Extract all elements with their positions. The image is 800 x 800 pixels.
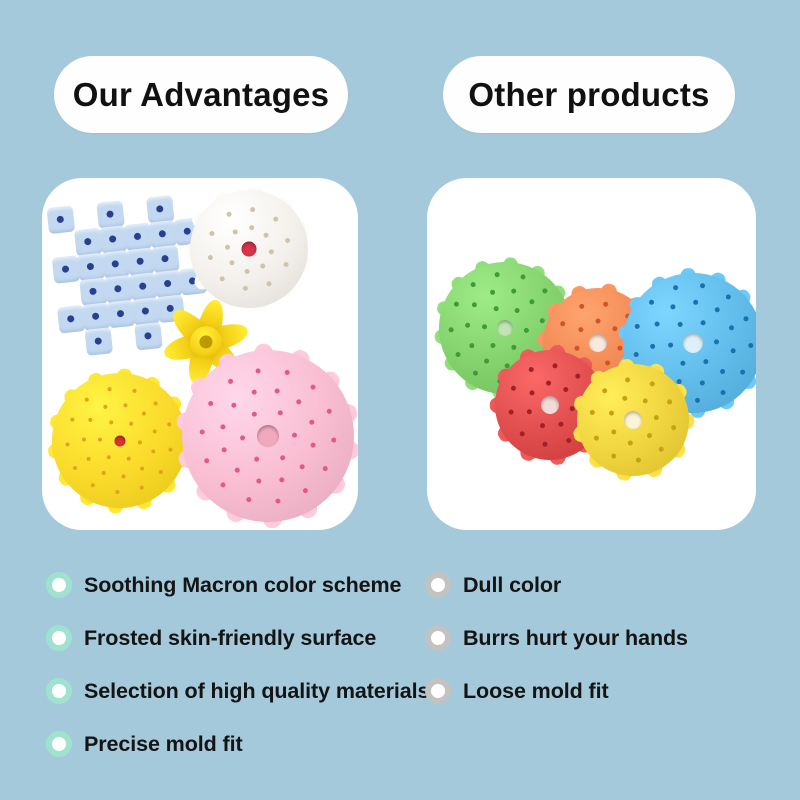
gear-peg-hole [575,373,581,379]
gear-peg-hole [65,442,69,446]
gear-peg-hole [625,377,631,383]
drawback-item[interactable]: Loose mold fit [425,678,609,704]
gear-peg-hole [700,320,705,325]
gear-peg-hole [224,244,229,249]
gear-peg-hole [481,323,486,328]
gear-peg-hole [310,385,315,390]
yellow-gear [47,368,191,512]
gear-peg-hole [526,409,532,415]
gear-peg-hole [106,455,110,459]
gear-peg-hole [291,432,296,437]
gear-peg-hole [511,288,516,293]
gear-peg-hole [81,437,85,441]
gear-peg-hole [251,390,256,395]
gear-peg-hole [303,488,308,493]
right-product-photo [427,178,756,530]
gear-peg-hole [220,424,225,429]
left-column-title: Our Advantages [73,76,329,114]
gear-peg-hole [642,398,648,404]
gear-peg-hole [268,249,273,254]
gear-peg-hole [693,299,698,304]
gear-peg-hole [126,456,130,460]
gear-peg-hole [86,457,90,461]
gear-peg-hole [249,224,254,229]
gear-peg-hole [167,422,171,426]
drawback-label: Dull color [463,573,561,598]
gear-peg-hole [132,389,136,393]
gear-peg-hole [204,458,209,463]
advantage-item[interactable]: Soothing Macron color scheme [46,572,401,598]
gear-peg-hole [654,321,659,326]
advantage-label: Soothing Macron color scheme [84,573,401,598]
gear-peg-hole [70,418,74,422]
drawback-label: Burrs hurt your hands [463,626,688,651]
gear-peg-hole [129,422,133,426]
bad-circle-icon [425,625,451,651]
gear-peg-hole [296,399,301,404]
gear-peg-hole [539,423,545,429]
gear-peg-hole [256,478,261,483]
drawback-item[interactable]: Dull color [425,572,561,598]
gear-peg-hole [277,410,282,415]
gear-peg-hole [464,322,469,327]
gear-peg-hole [608,410,614,416]
gear-peg-hole [280,455,285,460]
gear-peg-hole [254,457,259,462]
advantage-item[interactable]: Precise mold fit [46,731,243,757]
advantage-item[interactable]: Selection of high quality materials [46,678,429,704]
gear-peg-hole [511,344,516,349]
gear-peg-hole [137,440,141,444]
gear-peg-hole [617,345,623,351]
gear-peg-hole [545,380,551,386]
gear-peg-hole [239,435,244,440]
advantage-label: Precise mold fit [84,732,243,757]
gear-peg-hole [529,390,535,396]
good-circle-icon [46,678,72,704]
advantage-item[interactable]: Frosted skin-friendly surface [46,625,376,651]
gear-peg-hole [539,318,544,323]
gear-peg-hole [250,206,255,211]
drawback-item[interactable]: Burrs hurt your hands [425,625,688,651]
good-circle-icon [46,572,72,598]
gear-peg-hole [101,471,105,475]
gear-peg-hole [593,435,599,441]
comparison-infographic: Our Advantages Other products Soothing M… [0,0,800,800]
gear-peg-hole [109,420,113,424]
drawback-label: Loose mold fit [463,679,609,704]
gear-peg-hole [273,216,278,221]
bad-circle-icon [425,678,451,704]
gear-peg-hole [677,321,682,326]
bad-circle-icon [425,572,451,598]
gear-peg-hole [309,419,314,424]
gear-peg-hole [88,418,92,422]
gear-peg-hole [671,424,677,430]
left-product-photo-card [42,178,358,530]
gear-peg-hole [97,437,101,441]
gear-peg-hole [455,352,460,357]
gear-peg-hole [673,285,678,290]
gear-peg-hole [489,290,494,295]
gear-peg-hole [244,268,249,273]
gear-peg-hole [121,474,125,478]
gear-peg-hole [523,327,528,332]
gear-peg-hole [251,412,256,417]
gear-peg-hole [208,401,213,406]
gear-peg-hole [633,351,638,356]
gear-peg-hole [448,327,453,332]
left-column-title-pill: Our Advantages [54,56,348,133]
gear-peg-hole [667,342,672,347]
right-column-title-pill: Other products [443,56,735,133]
gear-peg-hole [743,316,748,321]
advantage-label: Selection of high quality materials [84,679,429,704]
gear-peg-hole [139,486,143,490]
good-circle-icon [46,731,72,757]
left-product-photo [42,178,358,530]
good-circle-icon [46,625,72,651]
gear-peg-hole [649,344,654,349]
gear-peg-hole [469,343,474,348]
gear-peg-hole [200,429,205,434]
gear-peg-hole [602,388,608,394]
gear-peg-hole [246,497,251,502]
gear-peg-hole [231,403,236,408]
right-product-photo-card [427,178,756,530]
gear-peg-hole [140,466,144,470]
gear-peg-hole [595,318,601,324]
gear-peg-hole [653,414,659,420]
gear-peg-hole [552,362,558,368]
right-column-title: Other products [468,76,709,114]
gear-peg-hole [578,327,584,333]
advantage-label: Frosted skin-friendly surface [84,626,376,651]
gear-peg-hole [152,429,156,433]
gear-peg-hole [255,368,260,373]
gear-peg-hole [490,342,495,347]
gear-peg-hole [713,339,718,344]
